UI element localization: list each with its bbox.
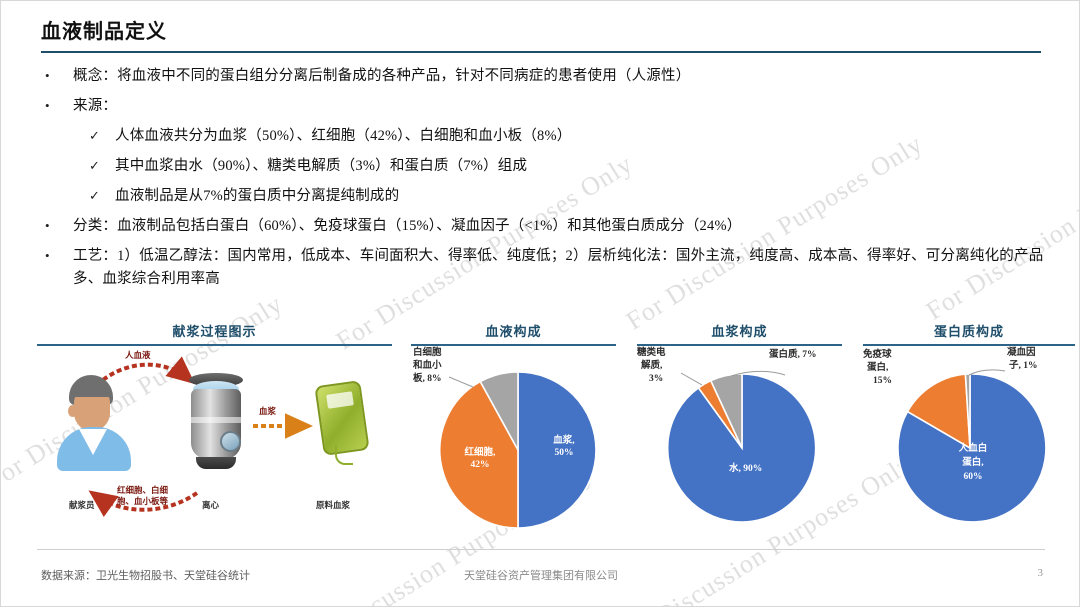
panel-protein-composition: 蛋白质构成 免疫球 蛋白, 15% 凝血因 子, 1% 人血白 [863, 321, 1075, 346]
panel-blood-composition: 血液构成 血浆, 50% 红细胞, 42% 白细胞 和血小 [411, 321, 616, 346]
ear-shape [68, 405, 77, 417]
process-diagram: 人血液 血浆 红细胞、白细 胞、血小板等 献浆员 离心 原料血浆 [37, 343, 392, 538]
node-caption-centrifuge: 离心 [202, 499, 219, 511]
arrow-label-return-line2: 胞、血小板等 [117, 496, 168, 507]
bullet-text: 概念：将血液中不同的蛋白组分分离后制备成的各种产品，针对不同病症的患者使用（人源… [73, 65, 690, 88]
pie-label-plasma-line2: 50% [541, 447, 587, 459]
page-title: 血液制品定义 [41, 15, 1041, 51]
bullet-item: • 来源： [41, 95, 1051, 118]
pie-label-factor-line2: 子, 1% [1009, 360, 1038, 372]
pie-label-wbc-line3: 板, 8% [413, 373, 442, 385]
panel-row: 献浆过程图示 [37, 321, 1047, 546]
bullet-text: 工艺：1）低温乙醇法：国内常用，低成本、车间面积大、得率低、纯度低；2）层析纯化… [73, 245, 1048, 291]
footer-company: 天堂硅谷资产管理集团有限公司 [1, 567, 1080, 583]
bullet-text: 血液制品是从7%的蛋白质中分离提纯制成的 [115, 185, 399, 208]
bullet-text: 其中血浆由水（90%）、糖类电解质（3%）和蛋白质（7%）组成 [115, 155, 527, 178]
panel-title: 血浆构成 [637, 321, 842, 344]
page-number: 3 [1038, 567, 1044, 579]
panel-header: 蛋白质构成 [863, 321, 1075, 346]
centrifuge-base [196, 457, 236, 469]
bullet-text: 人体血液共分为血浆（50%）、红细胞（42%）、白细胞和血小板（8%） [115, 125, 571, 148]
pie-label-albumin-line3: 60% [949, 471, 997, 483]
bullet-text: 分类：血液制品包括白蛋白（60%）、免疫球蛋白（15%）、凝血因子（<1%）和其… [73, 215, 741, 238]
pie-label-sugar-line2: 解质, [641, 360, 662, 372]
bullet-item: • 工艺：1）低温乙醇法：国内常用，低成本、车间面积大、得率低、纯度低；2）层析… [41, 245, 1051, 291]
panel-header: 血液构成 [411, 321, 616, 346]
bullet-marker: • [41, 215, 73, 237]
slide-header: 血液制品定义 [41, 15, 1041, 53]
panel-title: 蛋白质构成 [863, 321, 1075, 344]
panel-divider [637, 344, 842, 346]
title-divider [41, 51, 1041, 53]
check-icon: ✓ [89, 125, 115, 147]
check-icon: ✓ [89, 155, 115, 177]
panel-title: 血液构成 [411, 321, 616, 344]
bullet-item: ✓ 血液制品是从7%的蛋白质中分离提纯制成的 [89, 185, 1051, 208]
donor-illustration [57, 375, 131, 471]
panel-header: 献浆过程图示 [37, 321, 392, 346]
pie-label-albumin-line2: 蛋白, [949, 457, 997, 469]
centrifuge-illustration [187, 373, 245, 473]
bullet-item: • 概念：将血液中不同的蛋白组分分离后制备成的各种产品，针对不同病症的患者使用（… [41, 65, 1051, 88]
pie-label-rbc-line1: 红细胞, [451, 447, 509, 459]
panel-divider [411, 344, 616, 346]
bullet-item: ✓ 人体血液共分为血浆（50%）、红细胞（42%）、白细胞和血小板（8%） [89, 125, 1051, 148]
bullet-item: ✓ 其中血浆由水（90%）、糖类电解质（3%）和蛋白质（7%）组成 [89, 155, 1051, 178]
panel-process-diagram: 献浆过程图示 [37, 321, 392, 346]
bag-tube-shape [335, 445, 353, 465]
footer-divider [37, 549, 1045, 550]
chart-protein-composition: 免疫球 蛋白, 15% 凝血因 子, 1% 人血白 蛋白, 60% [863, 347, 1075, 543]
arrow-label-plasma: 血浆 [259, 405, 276, 417]
plasma-bag-illustration [315, 379, 365, 467]
pie-chart-plasma [661, 367, 823, 529]
arrow-label-blood: 人血液 [125, 349, 151, 361]
panel-header: 血浆构成 [637, 321, 842, 346]
pie-label-wbc-line1: 白细胞 [413, 347, 442, 359]
slide-canvas: For Discussion Purposes Only For Discuss… [0, 0, 1080, 607]
centrifuge-band [191, 417, 241, 423]
pie-label-sugar-line3: 3% [649, 373, 663, 385]
panel-divider [863, 344, 1075, 346]
pie-label-factor-line1: 凝血因 [1007, 347, 1036, 359]
node-caption-donor: 献浆员 [69, 499, 95, 511]
centrifuge-knob [220, 431, 241, 452]
pie-label-albumin-line1: 人血白 [949, 443, 997, 455]
pie-label-protein: 蛋白质, 7% [769, 349, 817, 361]
pie-label-sugar-line1: 糖类电 [637, 347, 666, 359]
pie-label-ig-line3: 15% [873, 375, 892, 387]
bullet-marker: • [41, 65, 73, 87]
pie-label-rbc-line2: 42% [451, 459, 509, 471]
bullet-marker: • [41, 245, 73, 267]
bullet-text: 来源： [73, 95, 117, 118]
node-caption-plasma: 原料血浆 [316, 499, 350, 511]
check-icon: ✓ [89, 185, 115, 207]
pie-label-wbc-line2: 和血小 [413, 360, 442, 372]
bullet-marker: • [41, 95, 73, 117]
chart-blood-composition: 血浆, 50% 红细胞, 42% 白细胞 和血小 板, 8% [411, 347, 616, 543]
pie-label-ig-line1: 免疫球 [863, 349, 892, 361]
chart-plasma-composition: 糖类电 解质, 3% 蛋白质, 7% 水, 90% [637, 347, 842, 543]
hair-front-shape [70, 381, 112, 397]
bullet-list: • 概念：将血液中不同的蛋白组分分离后制备成的各种产品，针对不同病症的患者使用（… [41, 65, 1051, 298]
panel-plasma-composition: 血浆构成 糖类电 解质, 3% 蛋白质, 7% 水, 9 [637, 321, 842, 346]
arrow-label-return-line1: 红细胞、白细 [117, 485, 168, 496]
pie-label-ig-line2: 蛋白, [867, 362, 888, 374]
pie-label-plasma-line1: 血浆, [541, 435, 587, 447]
bullet-item: • 分类：血液制品包括白蛋白（60%）、免疫球蛋白（15%）、凝血因子（<1%）… [41, 215, 1051, 238]
pie-label-water: 水, 90% [729, 463, 762, 475]
panel-title: 献浆过程图示 [37, 321, 392, 344]
